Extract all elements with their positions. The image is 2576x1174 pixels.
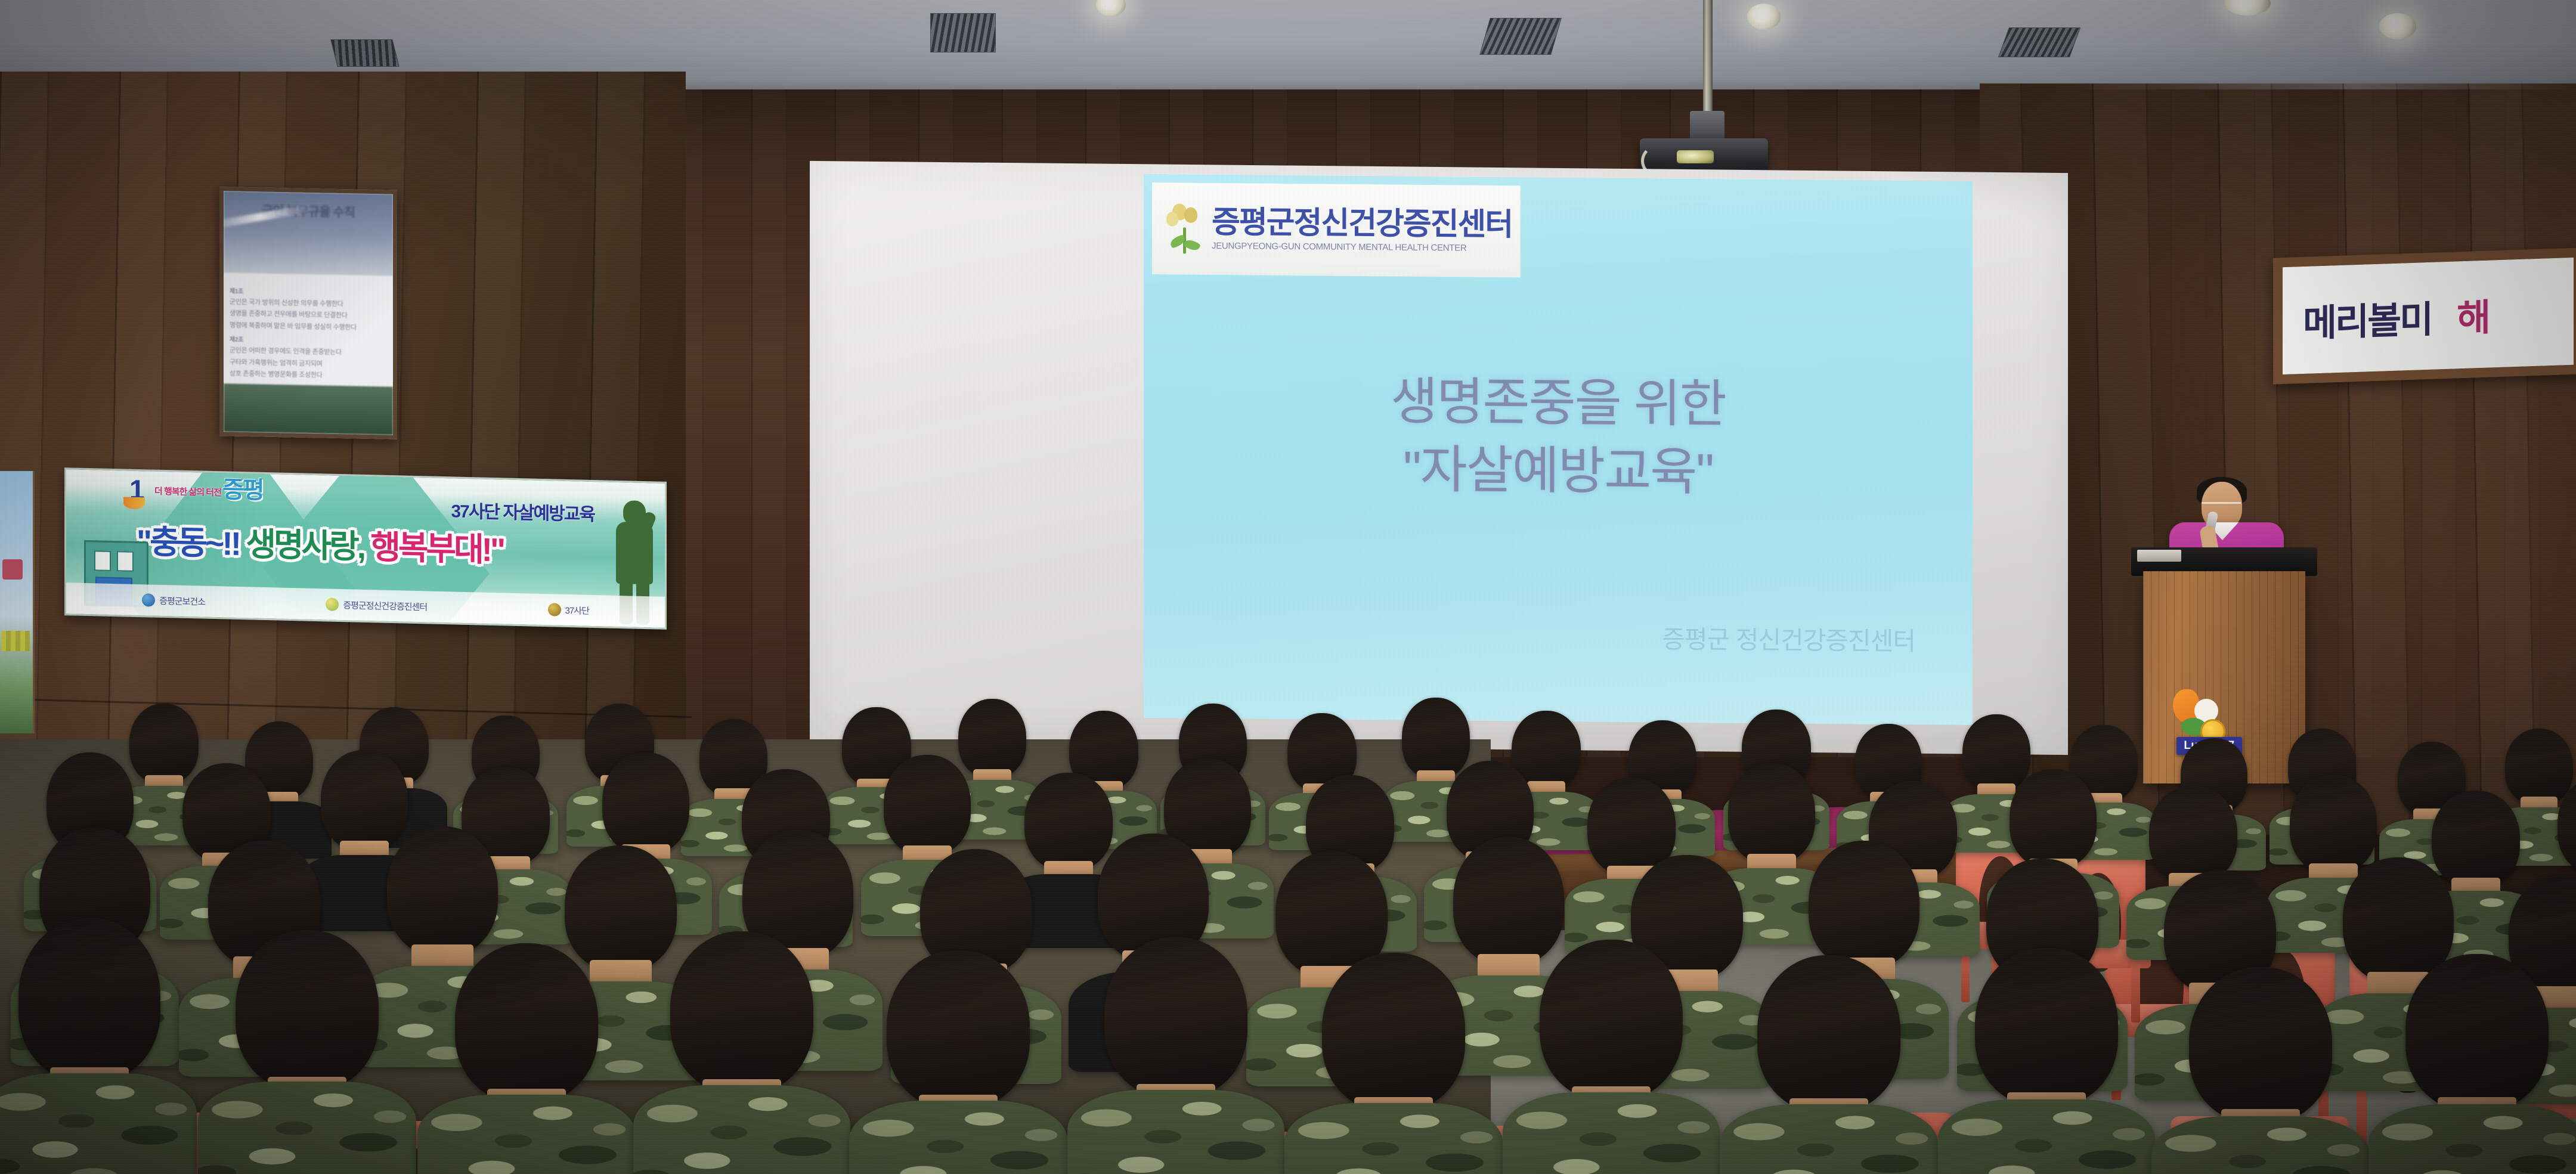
right-banner-text: 메리볼미 — [2303, 289, 2432, 347]
presentation-slide: 증평군정신건강증진센터 JEUNGPYEONG-GUN COMMUNITY ME… — [1144, 174, 1973, 725]
slide-title-line1: 생명존중을 위한 — [1144, 366, 1973, 441]
edge-banner-shape — [1, 631, 30, 651]
org-label: 증평군정신건강증진센터 — [343, 599, 427, 613]
banner-slogan-part1: "충동~!! — [137, 523, 239, 562]
audience-soldier — [1938, 948, 2155, 1174]
right-wall-banner: 메리볼미 해 — [2273, 247, 2576, 384]
ceiling-downlight — [1747, 4, 1781, 30]
wall-poster: 군인 복무규율 수칙 제1조 군인은 국가 방위의 신성한 의무를 수행한다 생… — [219, 187, 397, 439]
audience-soldier — [417, 943, 636, 1174]
podium-nameplate — [2137, 550, 2181, 562]
house-window — [94, 550, 111, 571]
org-logo-icon — [142, 593, 155, 607]
poster-footer-image — [224, 383, 393, 435]
poster-line: 상호 존중하는 병영문화를 조성한다 — [230, 368, 387, 382]
slide-logo-korean: 증평군정신건강증진센터 — [1212, 207, 1512, 240]
projector-lens-icon — [1677, 150, 1714, 163]
audience-soldier — [2151, 967, 2370, 1174]
banner-subheading: 37사단 자살예방교육 — [451, 496, 595, 526]
banner-brand-tagline: 더 행복한 삶의 터전 — [154, 485, 221, 499]
poster-line: 명령에 복종하며 맡은 바 임무를 성실히 수행한다 — [230, 320, 387, 334]
ceiling-vent — [1479, 18, 1562, 55]
ceiling-downlight — [2379, 13, 2416, 39]
audience-soldier — [2368, 954, 2576, 1174]
banner-slogan-part2: 생명사랑, — [246, 525, 364, 565]
glasses-icon — [2202, 502, 2241, 510]
slide-logo-english: JEUNGPYEONG-GUN COMMUNITY MENTAL HEALTH … — [1212, 241, 1512, 253]
house-window — [117, 551, 134, 572]
ceiling-vent — [930, 13, 996, 52]
banner-brand-swoosh-icon — [123, 497, 145, 509]
mascot-decoration — [2167, 684, 2234, 742]
audience-soldier — [1720, 955, 1938, 1174]
audience-soldier — [198, 930, 416, 1174]
org-label: 증평군보건소 — [159, 594, 205, 608]
edge-banner-shape — [2, 559, 23, 580]
banner-org: 37사단 — [548, 603, 589, 617]
banner-slogan-part3: 행복부대!" — [370, 528, 503, 568]
projector-pole — [1703, 0, 1713, 114]
audience-soldier — [0, 918, 197, 1174]
banner-org: 증평군보건소 — [142, 593, 205, 608]
banner-brand-name: 증평 — [222, 478, 263, 503]
slide-title: 생명존중을 위한 "자살예방교육" — [1144, 366, 1973, 509]
audience-soldier — [633, 931, 850, 1174]
event-banner: 1 더 행복한 삶의 터전 증평 37사단 자살예방교육 "충동~!! 생명사랑… — [64, 467, 667, 630]
ceiling-vent — [1998, 27, 2080, 57]
audience-soldier — [849, 950, 1067, 1174]
slide-footer: 증평군 정신건강증진센터 — [1662, 619, 1915, 658]
right-banner-text-pink: 해 — [2457, 287, 2489, 342]
flower-logo-icon — [1163, 201, 1207, 256]
slide-title-line2: "자살예방교육" — [1144, 433, 1973, 509]
audience-soldier — [1067, 937, 1284, 1174]
audience-soldier — [1284, 953, 1503, 1174]
ceiling-vent — [330, 39, 399, 67]
slide-logo-band: 증평군정신건강증진센터 JEUNGPYEONG-GUN COMMUNITY ME… — [1152, 182, 1521, 277]
banner-org: 증평군정신건강증진센터 — [326, 597, 427, 613]
auditorium-photo: 증평군정신건강증진센터 JEUNGPYEONG-GUN COMMUNITY ME… — [0, 0, 2576, 1174]
org-logo-icon — [548, 603, 561, 617]
org-label: 37사단 — [565, 603, 589, 617]
org-logo-icon — [326, 597, 339, 611]
edge-banner — [0, 471, 35, 733]
audience-soldier — [1503, 940, 1720, 1174]
